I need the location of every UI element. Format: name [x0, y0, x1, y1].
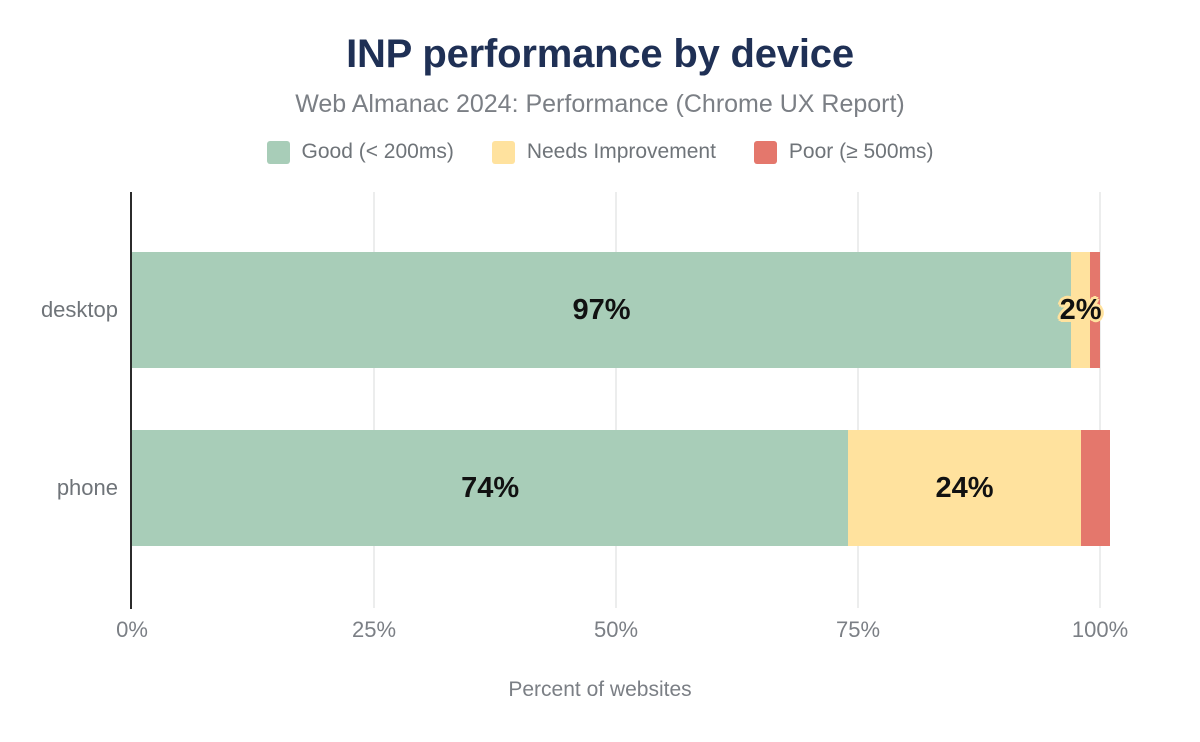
legend-swatch-needs-improvement — [492, 141, 515, 164]
chart-subtitle: Web Almanac 2024: Performance (Chrome UX… — [0, 88, 1200, 120]
x-tick-label-25: 25% — [352, 615, 396, 645]
x-tick-label-100: 100% — [1072, 615, 1128, 645]
legend-swatch-poor — [754, 141, 777, 164]
bar-segment-good-phone[interactable] — [132, 430, 848, 546]
legend-label-poor: Poor (≥ 500ms) — [789, 140, 934, 164]
x-tick-label-0: 0% — [116, 615, 148, 645]
y-tick-label-desktop: desktop — [8, 297, 118, 323]
y-tick-label-phone: phone — [8, 475, 118, 501]
plot-area: 97% 2% 74% 24% — [132, 192, 1100, 608]
bar-segment-poor-desktop[interactable] — [1090, 252, 1100, 368]
y-axis-tick-labels: desktop phone — [0, 192, 118, 608]
bar-segment-good-desktop[interactable] — [132, 252, 1071, 368]
legend-label-good: Good (< 200ms) — [302, 140, 454, 164]
x-axis-title: Percent of websites — [0, 676, 1200, 704]
chart-canvas: INP performance by device Web Almanac 20… — [0, 0, 1200, 742]
legend-item-poor[interactable]: Poor (≥ 500ms) — [754, 140, 934, 164]
legend-swatch-good — [267, 141, 290, 164]
legend-item-needs-improvement[interactable]: Needs Improvement — [492, 140, 716, 164]
chart-legend: Good (< 200ms) Needs Improvement Poor (≥… — [0, 140, 1200, 164]
legend-item-good[interactable]: Good (< 200ms) — [267, 140, 454, 164]
x-tick-label-50: 50% — [594, 615, 638, 645]
x-axis-tick-labels: 0% 25% 50% 75% 100% — [0, 615, 1200, 649]
x-tick-label-75: 75% — [836, 615, 880, 645]
page-title: INP performance by device — [0, 30, 1200, 78]
bar-segment-needs-improvement-desktop[interactable] — [1071, 252, 1090, 368]
bar-segment-poor-phone[interactable] — [1081, 430, 1110, 546]
bar-segment-needs-improvement-phone[interactable] — [848, 430, 1080, 546]
legend-label-needs-improvement: Needs Improvement — [527, 140, 716, 164]
